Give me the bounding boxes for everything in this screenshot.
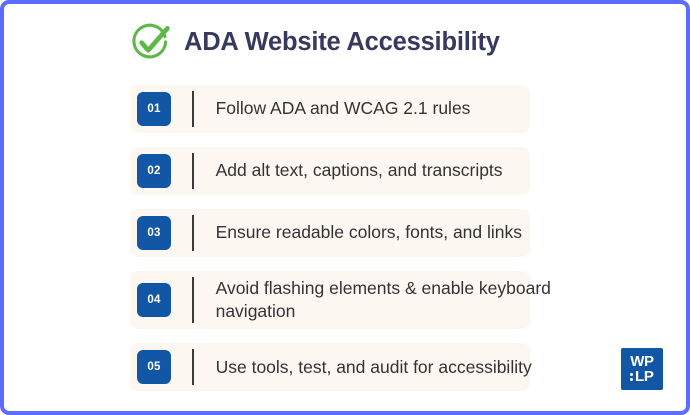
colon-dots-icon — [630, 373, 633, 381]
list-item: 02 Add alt text, captions, and transcrip… — [130, 147, 530, 195]
item-number-badge: 03 — [137, 216, 171, 250]
green-check-circle-icon — [130, 22, 171, 63]
wplp-logo: WP LP — [621, 348, 663, 390]
logo-bottom-row: LP — [630, 369, 653, 384]
item-number-badge: 01 — [137, 92, 171, 126]
item-number-badge: 02 — [137, 154, 171, 188]
infographic-card: ADA Website Accessibility 01 Follow ADA … — [0, 0, 690, 415]
item-number-badge: 04 — [137, 283, 171, 317]
item-divider — [192, 91, 194, 127]
item-text: Use tools, test, and audit for accessibi… — [216, 356, 532, 379]
item-text: Ensure readable colors, fonts, and links — [216, 221, 522, 244]
logo-bottom-text: LP — [635, 369, 654, 384]
item-divider — [192, 153, 194, 189]
item-text: Follow ADA and WCAG 2.1 rules — [216, 97, 471, 120]
item-divider — [192, 277, 194, 323]
list-item: 01 Follow ADA and WCAG 2.1 rules — [130, 85, 530, 133]
list-item: 04 Avoid flashing elements & enable keyb… — [130, 271, 530, 329]
header: ADA Website Accessibility — [130, 22, 500, 63]
page-title: ADA Website Accessibility — [184, 30, 500, 56]
logo-top-text: WP — [630, 354, 654, 369]
accessibility-tips-list: 01 Follow ADA and WCAG 2.1 rules 02 Add … — [130, 85, 530, 391]
item-text: Add alt text, captions, and transcripts — [216, 159, 503, 182]
list-item: 03 Ensure readable colors, fonts, and li… — [130, 209, 530, 257]
item-number-badge: 05 — [137, 350, 171, 384]
item-divider — [192, 349, 194, 385]
item-text: Avoid flashing elements & enable keyboar… — [216, 277, 606, 323]
item-divider — [192, 215, 194, 251]
list-item: 05 Use tools, test, and audit for access… — [130, 343, 530, 391]
